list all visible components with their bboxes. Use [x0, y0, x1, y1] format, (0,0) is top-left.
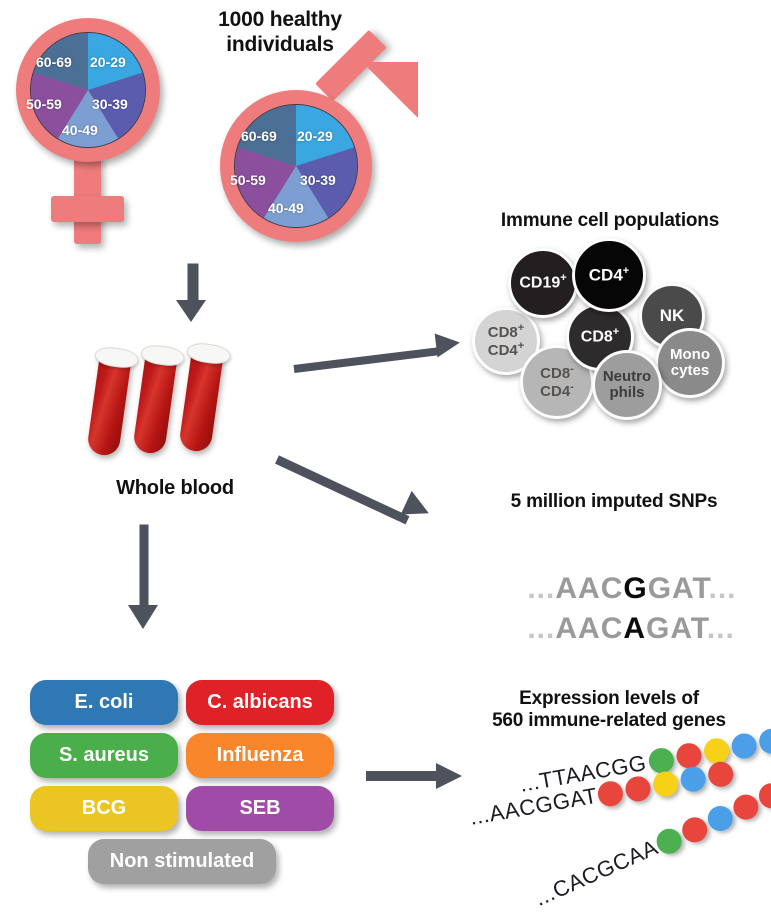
expression-bead-blue — [757, 726, 771, 755]
expression-bead-blue — [704, 801, 737, 834]
immune-cell-monocytes: Monocytes — [655, 328, 725, 398]
immune-cell-cd4-positive: CD4+ — [572, 238, 646, 312]
immune-cell-label: CD8+CD4+ — [488, 323, 524, 359]
immune-cell-label: Neutrophils — [603, 369, 651, 401]
expression-bead-blue — [730, 731, 759, 760]
expression-bead-red — [729, 790, 762, 823]
expression-bead-red — [706, 759, 735, 788]
expression-strands: ...TTAACGG ...AACGGAT ...CACGCAA — [0, 0, 771, 922]
expression-bead-red — [678, 813, 711, 846]
immune-cell-label: Monocytes — [670, 347, 710, 379]
immune-cell-label: CD19+ — [519, 273, 566, 292]
strand-sequence: ...CACGCAA — [531, 834, 662, 911]
expression-bead-red — [624, 774, 653, 803]
immune-cell-cd19-positive: CD19+ — [508, 248, 578, 318]
expression-bead-blue — [679, 764, 708, 793]
expression-bead-red — [596, 779, 625, 808]
immune-cell-neutrophils: Neutrophils — [592, 350, 662, 420]
immune-cell-label: CD8-CD4- — [540, 364, 574, 400]
immune-cell-label: CD8+ — [581, 327, 619, 346]
immune-cell-label: CD4+ — [589, 266, 629, 285]
immune-cell-label: NK — [660, 307, 685, 325]
expression-bead-yellow — [651, 769, 680, 798]
figure-canvas: 1000 healthy individuals 20-29 30-39 40-… — [0, 0, 771, 922]
